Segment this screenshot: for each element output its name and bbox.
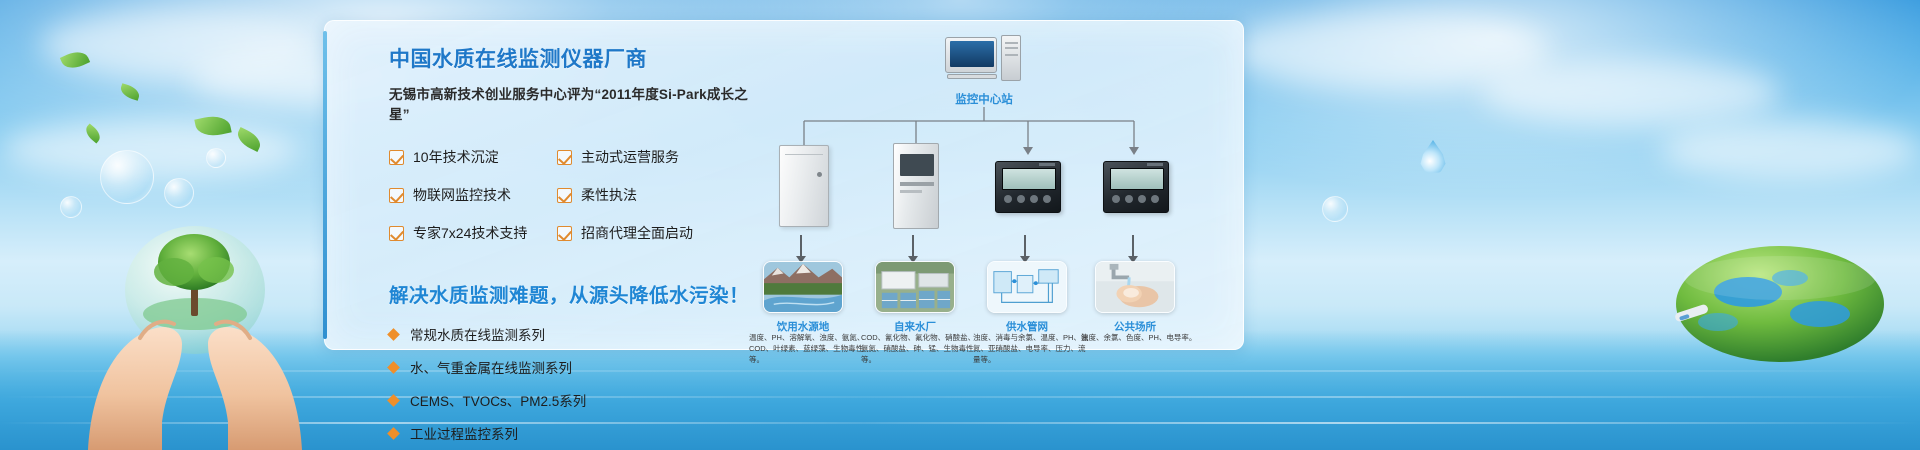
- scene-parameters: COD、氰化物、氟化物、硝酸盐、氨氮、硝酸盐、砷、锰、生物毒性等。: [861, 333, 977, 366]
- water-plant-photo: [875, 261, 955, 313]
- feature-label: 柔性执法: [581, 185, 637, 205]
- product-lines-list: 常规水质在线监测系列 水、气重金属在线监测系列 CEMS、TVOCs、PM2.5…: [389, 324, 749, 443]
- green-earth-illustration: [1652, 218, 1892, 368]
- diamond-bullet-icon: [387, 328, 400, 341]
- scene-caption: 自来水厂: [859, 319, 971, 334]
- left-text-column: 中国水质在线监测仪器厂商 无锡市高新技术创业服务中心评为“2011年度Si-Pa…: [389, 43, 749, 443]
- cloud-decoration: [1480, 60, 1780, 126]
- product-line-label: CEMS、TVOCs、PM2.5系列: [410, 390, 586, 410]
- product-line-item: 常规水质在线监测系列: [389, 324, 749, 344]
- scene-caption: 供水管网: [971, 319, 1083, 334]
- feature-item: 主动式运营服务: [557, 147, 737, 167]
- bubble-decoration: [100, 150, 154, 204]
- page-subtitle: 无锡市高新技术创业服务中心评为“2011年度Si-Park成长之星”: [389, 83, 749, 123]
- checkbox-icon: [389, 226, 404, 241]
- product-line-label: 工业过程监控系列: [410, 423, 518, 443]
- feature-item: 柔性执法: [557, 185, 737, 205]
- section-heading: 解决水质监测难题，从源头降低水污染！: [389, 279, 749, 308]
- checkbox-icon: [557, 150, 572, 165]
- scene-parameters: 浊度、消毒与余氯、温度、PH、氨氮、亚硝酸盐、电导率、压力、流量等。: [973, 333, 1089, 366]
- product-line-item: CEMS、TVOCs、PM2.5系列: [389, 390, 749, 410]
- feature-item: 物联网监控技术: [389, 185, 557, 205]
- flow-arrow-icon: [912, 235, 914, 257]
- cloud-decoration: [1660, 120, 1920, 180]
- product-line-label: 常规水质在线监测系列: [410, 324, 545, 344]
- checkbox-icon: [557, 226, 572, 241]
- scene-parameters: 浊度、余氯、色度、PH、电导率。: [1081, 333, 1197, 344]
- feature-label: 物联网监控技术: [413, 185, 511, 205]
- checkbox-icon: [389, 150, 404, 165]
- feature-item: 专家7x24技术支持: [389, 223, 557, 243]
- bubble-decoration: [206, 148, 226, 168]
- flow-arrow-icon: [1132, 235, 1134, 257]
- features-list: 10年技术沉淀 主动式运营服务 物联网监控技术 柔性执法 专家7x24技术支持: [389, 147, 749, 243]
- feature-label: 主动式运营服务: [581, 147, 679, 167]
- keyboard: [947, 74, 997, 79]
- computer-workstation-icon: [945, 37, 1023, 85]
- flow-arrow-icon: [800, 235, 802, 257]
- product-line-item: 水、气重金属在线监测系列: [389, 357, 749, 377]
- analyzer-body: [995, 161, 1061, 213]
- page-title: 中国水质在线监测仪器厂商: [389, 43, 749, 73]
- tap-washing-photo: [1095, 261, 1175, 313]
- diamond-bullet-icon: [387, 427, 400, 440]
- leaf-icon: [119, 83, 142, 101]
- feature-label: 招商代理全面启动: [581, 223, 693, 243]
- pipe-network-diagram: [987, 261, 1067, 313]
- water-quality-monitoring-banner: 中国水质在线监测仪器厂商 无锡市高新技术创业服务中心评为“2011年度Si-Pa…: [0, 0, 1920, 450]
- device-analyzer-icon: [991, 143, 1065, 233]
- hands-holding-tree-illustration: [70, 218, 320, 450]
- checkbox-icon: [389, 188, 404, 203]
- feature-item: 招商代理全面启动: [557, 223, 737, 243]
- bubble-decoration: [60, 196, 82, 218]
- scene-caption: 公共场所: [1079, 319, 1191, 334]
- system-architecture-diagram: 监控中心站: [749, 33, 1219, 343]
- checkbox-icon: [557, 188, 572, 203]
- device-cabinet-icon: [879, 143, 953, 233]
- scene-parameters: 温度、PH、溶解氧、浊度、氨氮、COD、叶绿素、蓝绿藻、生物毒性等。: [749, 333, 865, 366]
- water-droplet-icon: [1420, 140, 1446, 174]
- product-line-label: 水、气重金属在线监测系列: [410, 357, 572, 377]
- product-line-item: 工业过程监控系列: [389, 423, 749, 443]
- bubble-decoration: [164, 178, 194, 208]
- content-card: 中国水质在线监测仪器厂商 无锡市高新技术创业服务中心评为“2011年度Si-Pa…: [324, 20, 1244, 350]
- device-cabinet-icon: [767, 143, 841, 233]
- feature-label: 专家7x24技术支持: [413, 223, 527, 243]
- tower-icon: [1001, 35, 1021, 81]
- flow-arrow-icon: [1024, 235, 1026, 257]
- bubble-decoration: [1322, 196, 1348, 222]
- cabinet-body: [893, 143, 939, 229]
- center-station-label: 监控中心站: [919, 91, 1049, 107]
- cabinet-body: [779, 145, 829, 227]
- device-analyzer-icon: [1099, 143, 1173, 233]
- analyzer-body: [1103, 161, 1169, 213]
- monitor-icon: [945, 37, 997, 73]
- screen: [950, 41, 994, 67]
- feature-label: 10年技术沉淀: [413, 147, 499, 167]
- diamond-bullet-icon: [387, 394, 400, 407]
- river-source-photo: [763, 261, 843, 313]
- feature-item: 10年技术沉淀: [389, 147, 557, 167]
- scene-caption: 饮用水源地: [747, 319, 859, 334]
- diamond-bullet-icon: [387, 361, 400, 374]
